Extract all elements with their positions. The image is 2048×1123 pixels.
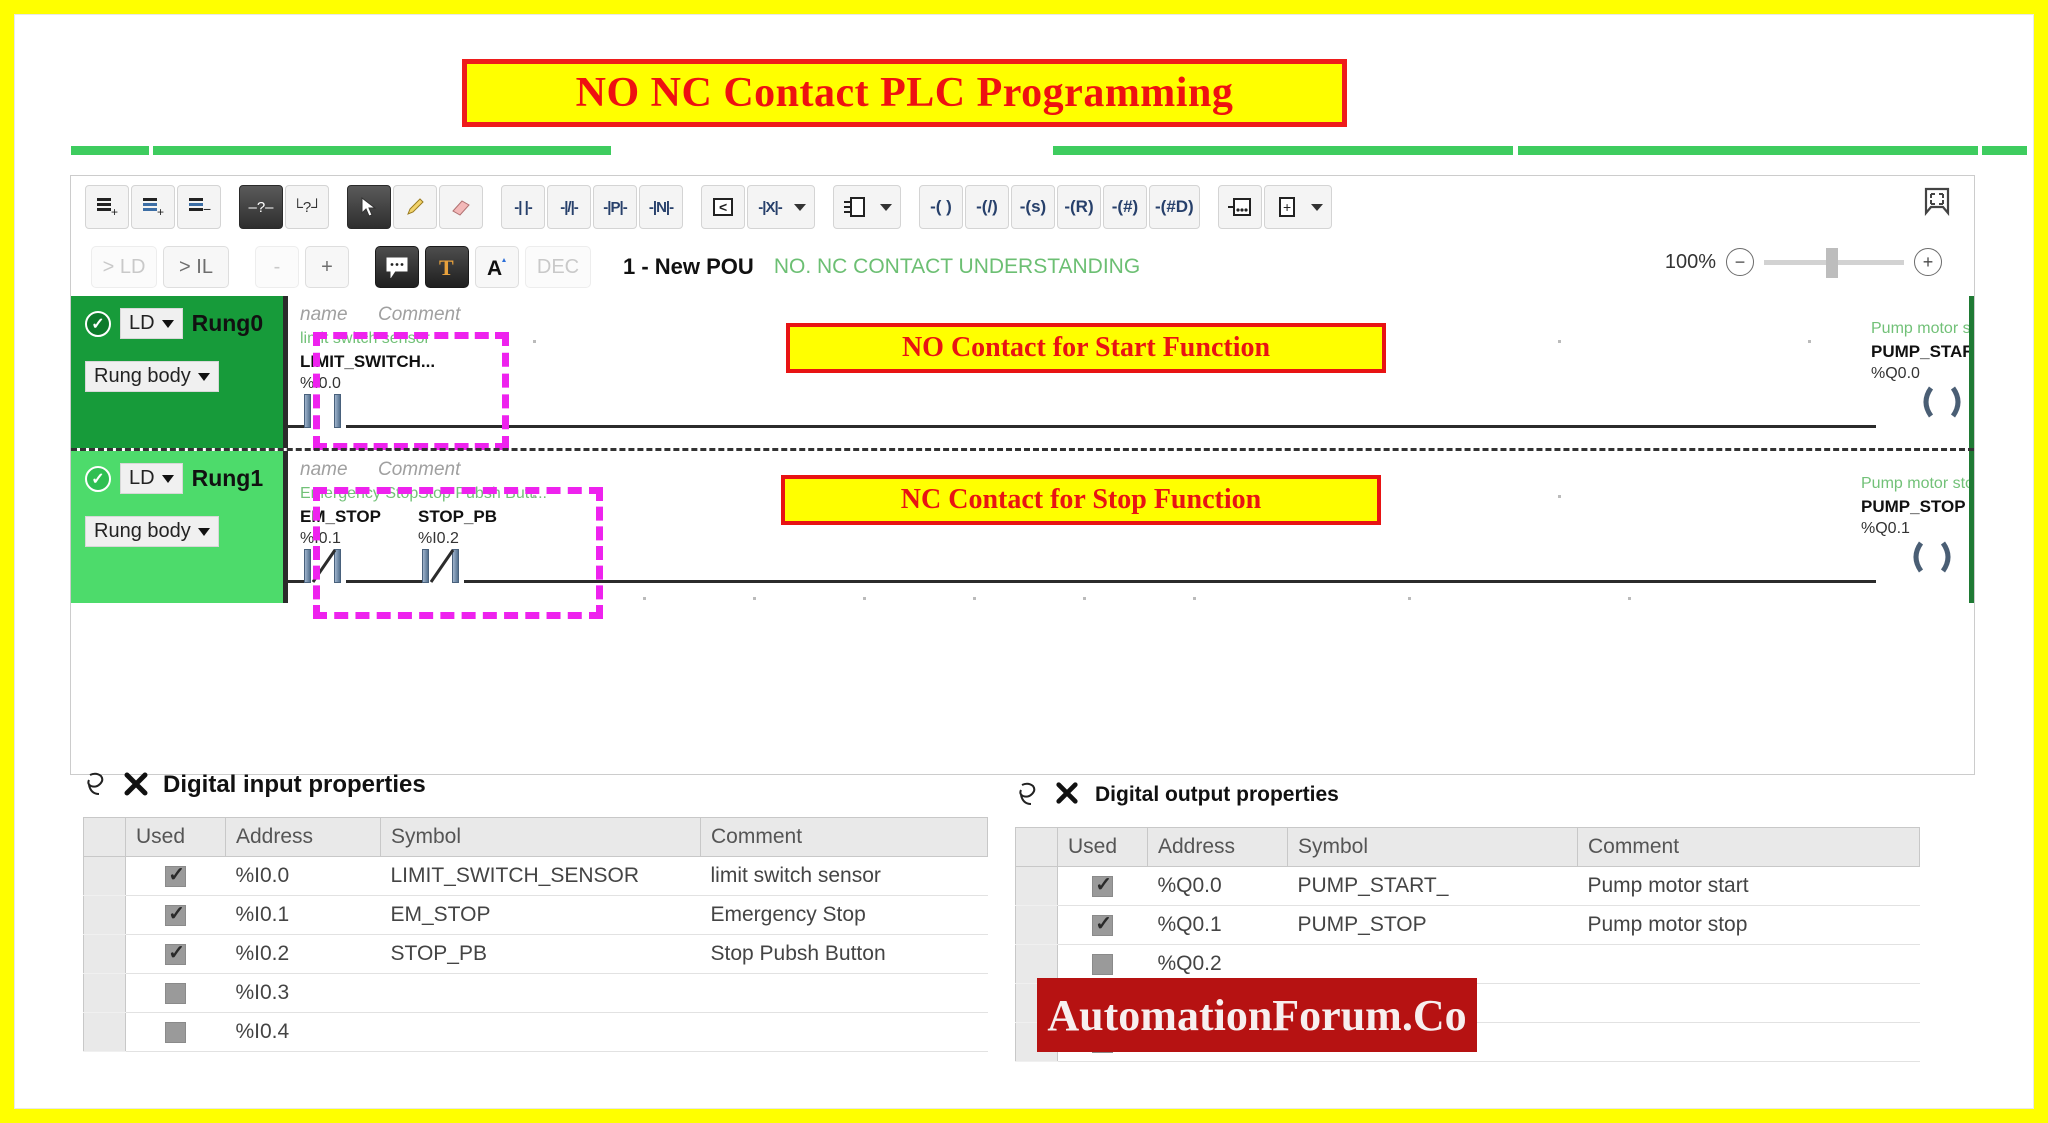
rung-0-coil-comment: Pump motor start — [1871, 320, 1975, 338]
font-tool-icon[interactable]: A — [475, 246, 519, 288]
rung-0-comment-column-header: Comment — [378, 304, 460, 326]
zoom-out-button[interactable]: − — [1726, 248, 1754, 276]
digital-input-table-body: %I0.0LIMIT_SWITCH_SENSORlimit switch sen… — [84, 857, 988, 1052]
chevron-down-icon[interactable] — [880, 204, 892, 211]
rung-1-language-dropdown[interactable]: LD — [120, 463, 183, 494]
rung-0-coil-address: %Q0.0 — [1871, 365, 1975, 383]
chevron-down-icon — [198, 528, 210, 536]
rung-1-language-label: LD — [129, 467, 155, 490]
cell-address[interactable]: %I0.1 — [226, 896, 381, 935]
table-row[interactable]: %Q0.1PUMP_STOPPump motor stop — [1016, 906, 1920, 945]
page-title: NO NC Contact PLC Programming — [576, 69, 1234, 117]
pencil-draw-icon[interactable] — [393, 185, 437, 229]
label-jump-icon[interactable]: └?┘ — [285, 185, 329, 229]
col-address[interactable]: Address — [1148, 828, 1288, 867]
rung-0-callout-text: NO Contact for Start Function — [902, 332, 1270, 364]
chevron-down-icon — [162, 320, 174, 328]
rung-0-coil[interactable]: Pump motor start PUMP_START_ %Q0.0 — [1871, 320, 1975, 419]
ladder-editor: + + − –?– └?┘ -| |- -|/|- -|P — [70, 175, 1975, 775]
zoom-increase-button[interactable]: + — [305, 246, 349, 288]
table-row[interactable]: %I0.3 — [84, 974, 988, 1013]
decor-green-bar — [1982, 146, 2027, 155]
table-header-row: Used Address Symbol Comment — [1016, 828, 1920, 867]
unknown-element-icon[interactable]: –?– — [239, 185, 283, 229]
cell-address[interactable]: %Q0.1 — [1148, 906, 1288, 945]
page-canvas: NO NC Contact PLC Programming + + − –?– … — [14, 14, 2034, 1109]
table-header-row: Used Address Symbol Comment — [84, 818, 988, 857]
cell-symbol[interactable]: STOP_PB — [381, 935, 701, 974]
col-comment[interactable]: Comment — [701, 818, 988, 857]
used-checkbox[interactable] — [126, 896, 226, 935]
coil-reset-icon[interactable]: -(R) — [1057, 185, 1101, 229]
rung-1-callout-text: NC Contact for Stop Function — [901, 484, 1261, 516]
coil-negated-icon[interactable]: -(/) — [965, 185, 1009, 229]
cell-address[interactable]: %I0.4 — [226, 1013, 381, 1052]
rung-1-coil-comment: Pump motor stop — [1861, 475, 1975, 493]
cell-address[interactable]: %I0.3 — [226, 974, 381, 1013]
table-row[interactable]: %I0.4 — [84, 1013, 988, 1052]
rung-0-enabled-checkbox[interactable]: ✓ — [85, 311, 111, 337]
cell-symbol[interactable]: EM_STOP — [381, 896, 701, 935]
row-gutter[interactable] — [84, 974, 126, 1013]
rung-0-coil-symbol: PUMP_START_ — [1871, 342, 1975, 362]
contact-negative-edge-icon[interactable]: -|N|- — [639, 185, 683, 229]
cell-comment[interactable]: Pump motor stop — [1578, 906, 1920, 945]
pin-icon[interactable] — [83, 771, 109, 799]
table-row[interactable]: %I0.2STOP_PBStop Pubsh Button — [84, 935, 988, 974]
insert-rung-below-icon[interactable]: + — [85, 185, 129, 229]
digital-output-panel-header: Digital output properties — [1015, 781, 1920, 809]
add-element-group[interactable]: + — [1264, 185, 1332, 229]
rung-0-language-label: LD — [129, 312, 155, 335]
rung-0-name-column-header: name — [300, 304, 348, 326]
cell-comment[interactable] — [701, 1013, 988, 1052]
more-elements-icon[interactable] — [1218, 185, 1262, 229]
used-checkbox[interactable] — [126, 974, 226, 1013]
row-gutter[interactable] — [84, 935, 126, 974]
rung-0: ✓ LD Rung0 Rung body name Comment — [71, 296, 1974, 448]
function-block-icon[interactable] — [834, 185, 878, 229]
cell-symbol[interactable] — [381, 1013, 701, 1052]
digital-input-panel-title: Digital input properties — [163, 771, 426, 799]
rung-1-comment-column-header: Comment — [378, 459, 460, 481]
compare-block-icon[interactable]: < — [701, 185, 745, 229]
cell-symbol[interactable]: PUMP_STOP — [1288, 906, 1578, 945]
coil-icon[interactable]: -( ) — [919, 185, 963, 229]
cell-symbol[interactable]: PUMP_START_ — [1288, 867, 1578, 906]
cell-symbol[interactable]: LIMIT_SWITCH_SENSOR — [381, 857, 701, 896]
text-tool-icon[interactable]: T — [425, 246, 469, 288]
col-symbol[interactable]: Symbol — [1288, 828, 1578, 867]
cell-comment[interactable]: Pump motor start — [1578, 867, 1920, 906]
chevron-down-icon — [162, 475, 174, 483]
svg-text:<: < — [719, 199, 727, 215]
cell-comment[interactable]: Stop Pubsh Button — [701, 935, 988, 974]
contact-positive-edge-icon[interactable]: -|P|- — [593, 185, 637, 229]
coil-icon — [1911, 385, 1971, 419]
contact-no-icon[interactable]: -| |- — [501, 185, 545, 229]
used-checkbox[interactable] — [126, 857, 226, 896]
rung-1-coil-symbol: PUMP_STOP — [1861, 497, 1975, 517]
svg-text:T: T — [439, 255, 454, 279]
page-title-banner: NO NC Contact PLC Programming — [462, 59, 1347, 127]
zoom-level-label: 100% — [1665, 251, 1716, 274]
pou-label: 1 - New POU — [623, 254, 754, 280]
row-gutter[interactable] — [84, 1013, 126, 1052]
decor-green-bar — [1518, 146, 1978, 155]
cell-symbol[interactable] — [381, 974, 701, 1013]
digital-input-panel: Digital input properties Used Address Sy… — [83, 771, 988, 1052]
cell-address[interactable]: %Q0.0 — [1148, 867, 1288, 906]
editor-toolbar-primary: + + − –?– └?┘ -| |- -|/|- -|P — [71, 176, 1974, 238]
rung-1-enabled-checkbox[interactable]: ✓ — [85, 466, 111, 492]
svg-text:+: + — [157, 205, 164, 219]
chevron-down-icon[interactable] — [1311, 204, 1323, 211]
rung-0-body-dropdown[interactable]: Rung body — [85, 361, 219, 392]
svg-text:+: + — [1283, 199, 1291, 215]
coil-icon — [1901, 540, 1961, 574]
rung-0-callout: NO Contact for Start Function — [786, 323, 1386, 373]
decor-green-bar — [153, 146, 611, 155]
used-checkbox[interactable] — [126, 1013, 226, 1052]
used-checkbox[interactable] — [126, 935, 226, 974]
col-symbol[interactable]: Symbol — [381, 818, 701, 857]
select-cursor-icon[interactable] — [347, 185, 391, 229]
rung-0-language-dropdown[interactable]: LD — [120, 308, 183, 339]
cell-comment[interactable] — [1578, 984, 1920, 1023]
convert-to-ld-button[interactable]: > LD — [91, 246, 157, 288]
used-checkbox[interactable] — [1058, 906, 1148, 945]
table-row[interactable]: %Q0.0PUMP_START_Pump motor start — [1016, 867, 1920, 906]
svg-text:+: + — [111, 205, 118, 219]
add-element-icon[interactable]: + — [1265, 185, 1309, 229]
cell-address[interactable]: %I0.2 — [226, 935, 381, 974]
rung-1-right-rail — [1969, 451, 1974, 603]
row-gutter-header — [1016, 828, 1058, 867]
close-x-icon[interactable] — [1055, 781, 1081, 809]
cell-comment[interactable] — [1578, 945, 1920, 984]
table-row[interactable]: %I0.0LIMIT_SWITCH_SENSORlimit switch sen… — [84, 857, 988, 896]
rung-1-name: Rung1 — [192, 465, 264, 492]
coil-set-icon[interactable]: -(s) — [1011, 185, 1055, 229]
rung-0-highlight-box — [313, 332, 509, 450]
convert-to-il-button[interactable]: > IL — [163, 246, 229, 288]
rung-1-header: ✓ LD Rung1 Rung body — [71, 451, 283, 603]
operate-block-icon[interactable]: -|X|- — [748, 185, 792, 229]
cell-comment[interactable] — [1578, 1023, 1920, 1062]
comment-balloon-icon[interactable] — [375, 246, 419, 288]
rung-1-body-label: Rung body — [94, 520, 191, 543]
function-block-group[interactable] — [833, 185, 901, 229]
chevron-down-icon[interactable] — [794, 204, 806, 211]
fullscreen-icon[interactable] — [1922, 186, 1952, 216]
row-gutter[interactable] — [84, 857, 126, 896]
insert-rung-right-icon[interactable]: + — [131, 185, 175, 229]
cell-comment[interactable] — [701, 974, 988, 1013]
contact-nc-icon[interactable]: -|/|- — [547, 185, 591, 229]
row-gutter-header — [84, 818, 126, 857]
rung-1-body-dropdown[interactable]: Rung body — [85, 516, 219, 547]
watermark-text: AutomationForum.Co — [1047, 990, 1466, 1041]
rung-1: ✓ LD Rung1 Rung body name Comment — [71, 451, 1974, 603]
pin-icon[interactable] — [1015, 781, 1041, 809]
rung-0-name: Rung0 — [192, 310, 264, 337]
col-used[interactable]: Used — [1058, 828, 1148, 867]
zoom-in-button[interactable]: + — [1914, 248, 1942, 276]
eraser-icon[interactable] — [439, 185, 483, 229]
digital-output-panel-title: Digital output properties — [1095, 783, 1339, 807]
close-x-icon[interactable] — [123, 771, 149, 799]
svg-text:−: − — [203, 201, 211, 217]
editor-toolbar-secondary: > LD > IL - + T A DEC 1 - New POU NO. NC… — [71, 238, 1974, 296]
rung-1-coil-address: %Q0.1 — [1861, 520, 1975, 538]
watermark-logo: AutomationForum.Co — [1037, 978, 1477, 1052]
rung-1-name-column-header: name — [300, 459, 348, 481]
col-address[interactable]: Address — [226, 818, 381, 857]
rung-1-callout: NC Contact for Stop Function — [781, 475, 1381, 525]
rung-0-body-label: Rung body — [94, 365, 191, 388]
rung-1-highlight-box — [313, 487, 603, 619]
coil-jump-icon[interactable]: -(#) — [1103, 185, 1147, 229]
row-gutter[interactable] — [1016, 906, 1058, 945]
ladder-diagram: ✓ LD Rung0 Rung body name Comment — [71, 296, 1974, 603]
used-checkbox[interactable] — [1058, 867, 1148, 906]
decor-green-bar — [71, 146, 149, 155]
zoom-slider-thumb[interactable] — [1826, 248, 1838, 278]
zoom-control[interactable]: 100% − + — [1665, 248, 1942, 276]
cell-comment[interactable]: limit switch sensor — [701, 857, 988, 896]
col-comment[interactable]: Comment — [1578, 828, 1920, 867]
coil-call-icon[interactable]: -(#D) — [1149, 185, 1200, 229]
digital-input-panel-header: Digital input properties — [83, 771, 988, 799]
digital-input-table: Used Address Symbol Comment %I0.0LIMIT_S… — [83, 817, 988, 1052]
rung-0-header: ✓ LD Rung0 Rung body — [71, 296, 283, 448]
row-gutter[interactable] — [1016, 867, 1058, 906]
row-gutter[interactable] — [84, 896, 126, 935]
cell-address[interactable]: %I0.0 — [226, 857, 381, 896]
chevron-down-icon — [198, 373, 210, 381]
rung-1-coil[interactable]: Pump motor stop PUMP_STOP %Q0.1 — [1861, 475, 1975, 574]
operate-block-group[interactable]: -|X|- — [747, 185, 815, 229]
zoom-decrease-button[interactable]: - — [255, 246, 299, 288]
col-used[interactable]: Used — [126, 818, 226, 857]
pou-comment: NO. NC CONTACT UNDERSTANDING — [774, 255, 1140, 279]
zoom-slider[interactable] — [1764, 260, 1904, 265]
cell-comment[interactable]: Emergency Stop — [701, 896, 988, 935]
dec-format-button[interactable]: DEC — [525, 246, 591, 288]
rung-0-right-rail — [1969, 296, 1974, 448]
delete-rung-icon[interactable]: − — [177, 185, 221, 229]
svg-text:A: A — [487, 257, 502, 279]
decor-green-bar — [1053, 146, 1513, 155]
table-row[interactable]: %I0.1EM_STOPEmergency Stop — [84, 896, 988, 935]
